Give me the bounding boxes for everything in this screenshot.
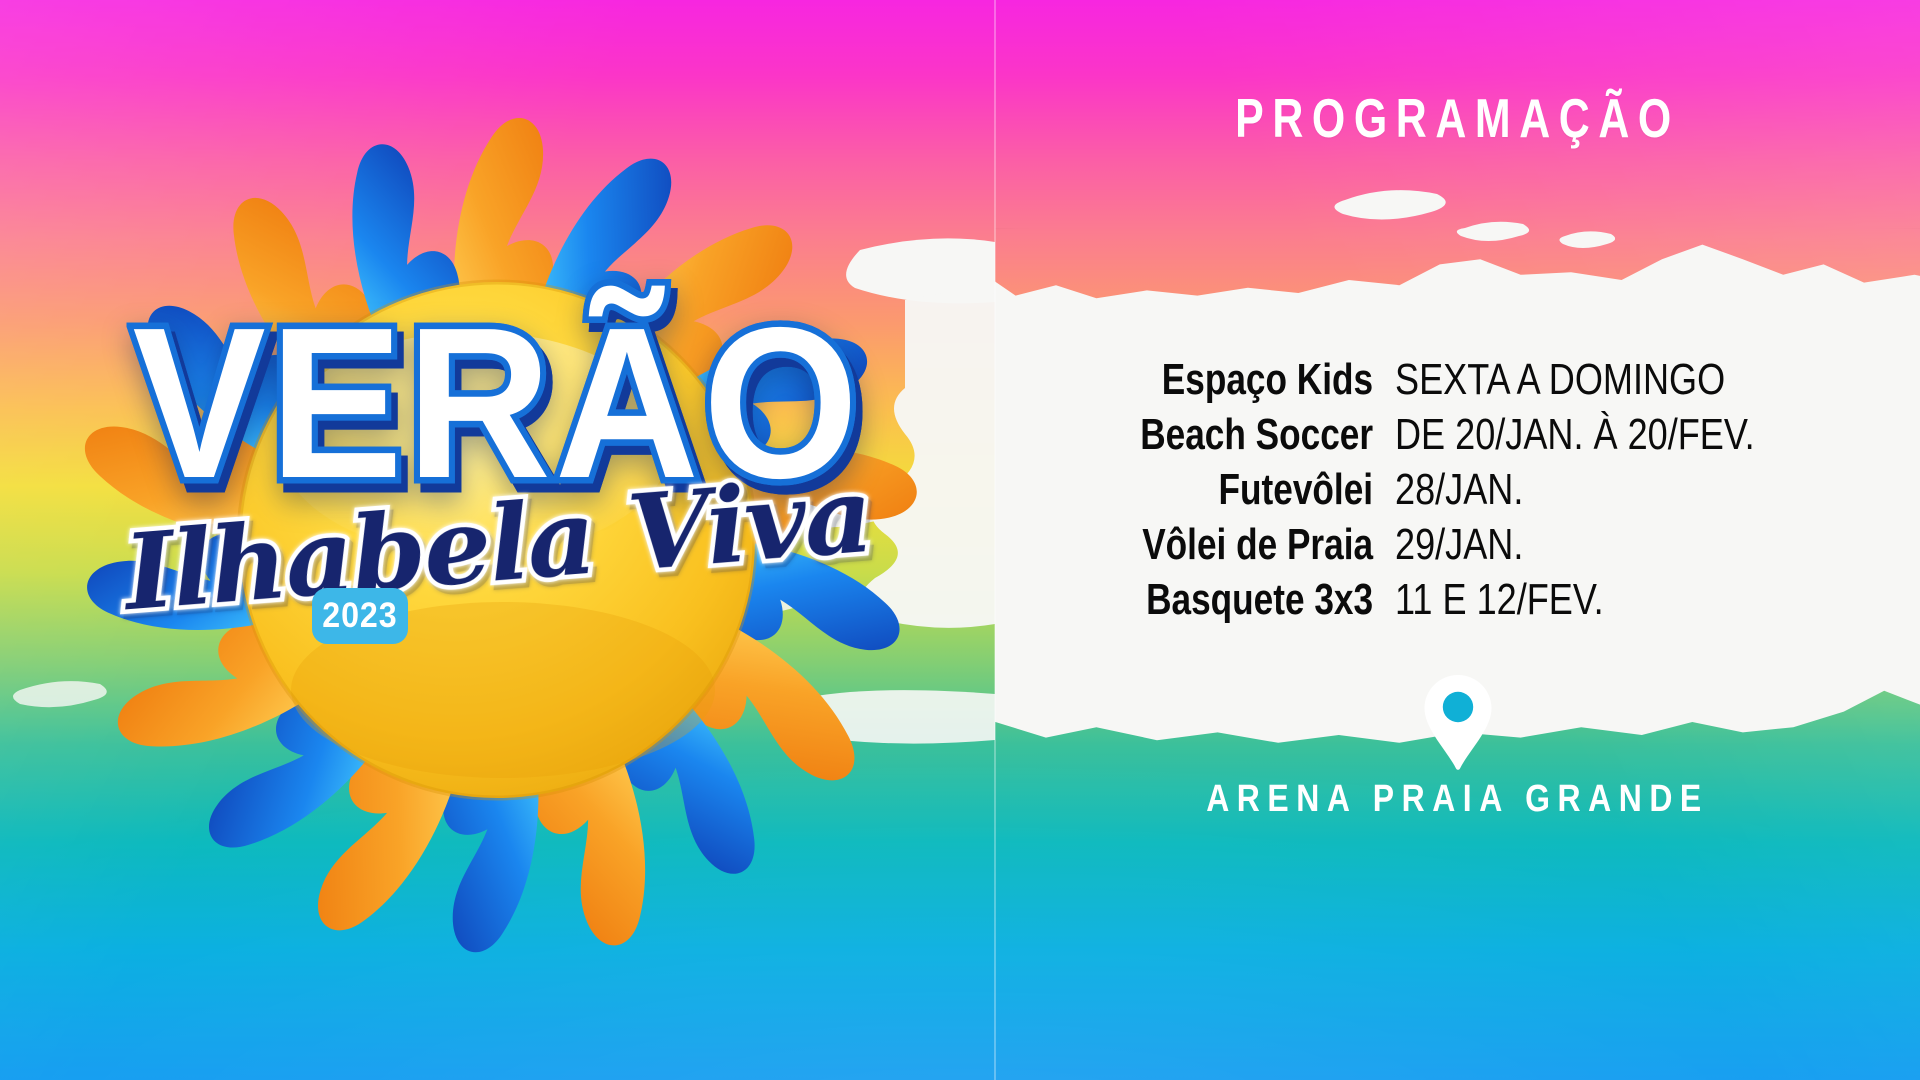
panel-divider bbox=[994, 0, 996, 1080]
page-title: PROGRAMAÇÃO bbox=[1097, 86, 1819, 150]
schedule-panel: PROGRAMAÇÃO Espaço KidsSEXTA A DOMINGOBe… bbox=[995, 0, 1920, 1080]
schedule-list: Espaço KidsSEXTA A DOMINGOBeach SoccerDE… bbox=[995, 352, 1920, 627]
venue-name: ARENA PRAIA GRANDE bbox=[1069, 778, 1846, 821]
schedule-label: Espaço Kids bbox=[1140, 352, 1373, 407]
schedule-value: 28/JAN. bbox=[1395, 462, 1755, 517]
schedule-value: SEXTA A DOMINGO bbox=[1395, 352, 1755, 407]
verao-logo: VERÃO Ilhabela Viva 2023 bbox=[0, 40, 995, 1040]
logo-panel: VERÃO Ilhabela Viva 2023 bbox=[0, 0, 995, 1080]
sun-icon bbox=[0, 40, 995, 1040]
schedule-value: 11 E 12/FEV. bbox=[1395, 572, 1755, 627]
schedule-label: Vôlei de Praia bbox=[1140, 517, 1373, 572]
schedule-value: 29/JAN. bbox=[1395, 517, 1755, 572]
schedule-label: Beach Soccer bbox=[1140, 407, 1373, 462]
schedule-label: Basquete 3x3 bbox=[1140, 572, 1373, 627]
location-pin-wrapper bbox=[995, 672, 1920, 777]
map-pin-icon bbox=[1420, 672, 1496, 772]
schedule-value: DE 20/JAN. À 20/FEV. bbox=[1395, 407, 1755, 462]
schedule-label: Futevôlei bbox=[1140, 462, 1373, 517]
poster: VERÃO Ilhabela Viva 2023 PROGRAMAÇÃO bbox=[0, 0, 1920, 1080]
